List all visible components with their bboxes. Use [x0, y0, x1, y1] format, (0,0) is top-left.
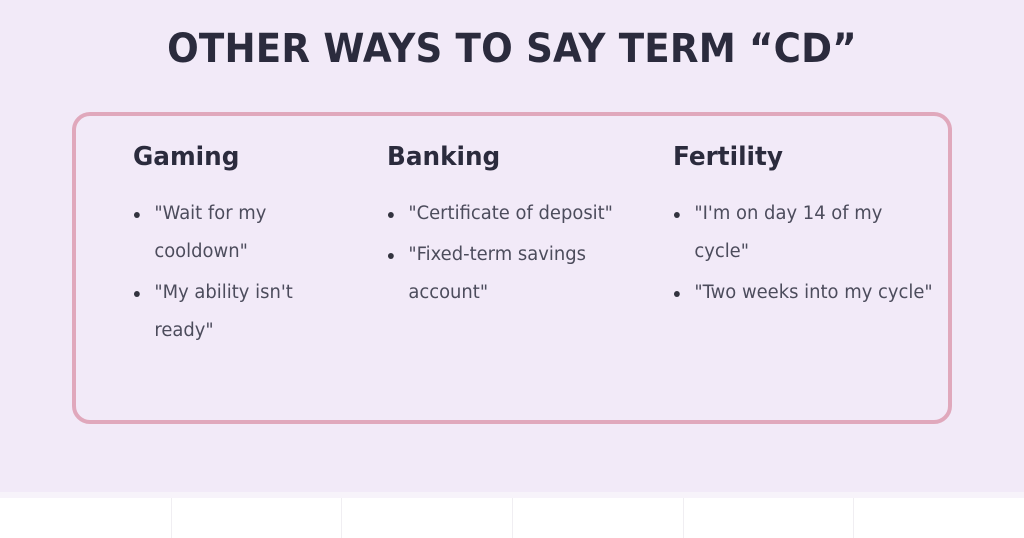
phrase-list-fertility: "I'm on day 14 of my cycle" "Two weeks i…: [673, 195, 948, 312]
column-banking: Banking "Certificate of deposit" "Fixed-…: [331, 116, 620, 315]
phrase-text: "Fixed-term savings account": [409, 244, 587, 303]
column-fertility: Fertility "I'm on day 14 of my cycle" "T…: [621, 116, 948, 315]
column-gaming: Gaming "Wait for my cooldown" "My abilit…: [76, 116, 331, 353]
column-heading-fertility: Fertility: [673, 141, 934, 173]
phrase-list-banking: "Certificate of deposit" "Fixed-term sav…: [387, 195, 620, 312]
filmstrip-divider: [341, 498, 342, 538]
filmstrip: [0, 498, 1024, 538]
bullet-icon: [388, 253, 394, 259]
list-item: "Wait for my cooldown": [133, 195, 325, 271]
list-item: "Certificate of deposit": [387, 195, 613, 233]
phrase-text: "Two weeks into my cycle": [694, 282, 932, 303]
column-heading-banking: Banking: [387, 141, 609, 173]
list-item: "Fixed-term savings account": [387, 236, 613, 312]
bullet-icon: [134, 291, 140, 297]
list-item: "I'm on day 14 of my cycle": [673, 195, 940, 271]
filmstrip-divider: [512, 498, 513, 538]
bullet-icon: [674, 212, 680, 218]
list-item: "Two weeks into my cycle": [673, 274, 940, 312]
content-card: Gaming "Wait for my cooldown" "My abilit…: [72, 112, 952, 424]
phrase-text: "Wait for my cooldown": [154, 203, 266, 262]
page-title: OTHER WAYS TO SAY TERM “CD”: [36, 24, 988, 74]
phrase-list-gaming: "Wait for my cooldown" "My ability isn't…: [133, 195, 331, 350]
column-heading-gaming: Gaming: [133, 141, 322, 173]
bullet-icon: [388, 212, 394, 218]
phrase-text: "I'm on day 14 of my cycle": [694, 203, 882, 262]
bullet-icon: [134, 212, 140, 218]
filmstrip-divider: [683, 498, 684, 538]
filmstrip-divider: [171, 498, 172, 538]
bullet-icon: [674, 291, 680, 297]
phrase-text: "My ability isn't ready": [154, 282, 292, 341]
filmstrip-divider: [853, 498, 854, 538]
slide-panel: OTHER WAYS TO SAY TERM “CD” Gaming "Wait…: [0, 0, 1024, 492]
phrase-text: "Certificate of deposit": [409, 203, 614, 224]
columns-container: Gaming "Wait for my cooldown" "My abilit…: [76, 116, 948, 420]
list-item: "My ability isn't ready": [133, 274, 325, 350]
